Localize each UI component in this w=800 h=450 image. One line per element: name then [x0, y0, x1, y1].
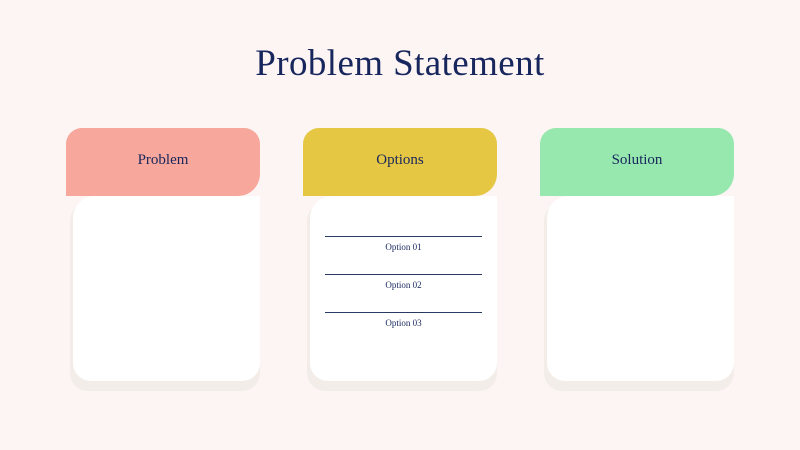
- card-body-options[interactable]: Option 01 Option 02 Option 03: [310, 196, 497, 381]
- option-label-03: Option 03: [325, 318, 482, 328]
- card-title-solution: Solution: [612, 152, 663, 169]
- card-header-options[interactable]: Options: [303, 128, 497, 196]
- option-divider: [325, 236, 482, 237]
- card-body-problem[interactable]: [73, 196, 260, 381]
- card-title-problem: Problem: [138, 152, 189, 169]
- card-header-solution[interactable]: Solution: [540, 128, 734, 196]
- option-label-02: Option 02: [325, 280, 482, 290]
- option-label-01: Option 01: [325, 242, 482, 252]
- list-item[interactable]: Option 03: [325, 312, 482, 328]
- card-header-problem[interactable]: Problem: [66, 128, 260, 196]
- option-divider: [325, 274, 482, 275]
- card-title-options: Options: [376, 152, 424, 169]
- card-options[interactable]: Options Option 01 Option 02 Option 03: [303, 128, 497, 391]
- list-item[interactable]: Option 01: [325, 236, 482, 252]
- list-item[interactable]: Option 02: [325, 274, 482, 290]
- page-title: Problem Statement: [0, 42, 800, 85]
- slide-canvas: Problem Statement Problem Options Option…: [0, 0, 800, 450]
- options-list: Option 01 Option 02 Option 03: [325, 236, 482, 350]
- card-body-solution[interactable]: [547, 196, 734, 381]
- option-divider: [325, 312, 482, 313]
- card-solution[interactable]: Solution: [540, 128, 734, 391]
- card-problem[interactable]: Problem: [66, 128, 260, 391]
